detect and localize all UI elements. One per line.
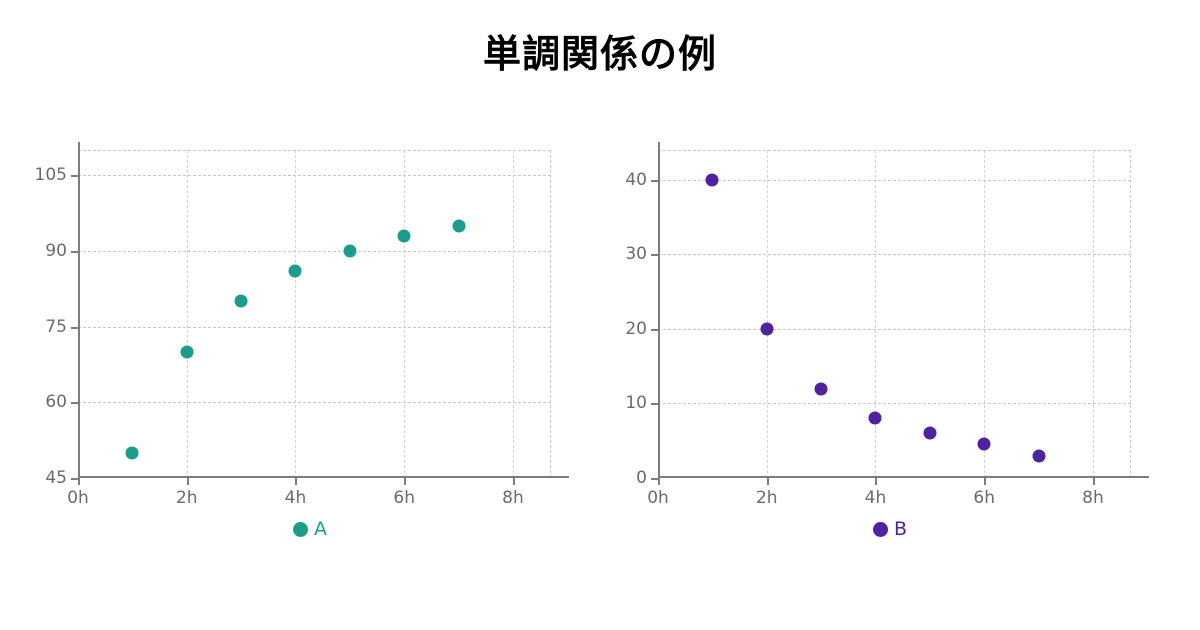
y-axis-tick bbox=[651, 478, 658, 480]
x-axis-tick bbox=[187, 478, 189, 485]
data-point[interactable] bbox=[398, 229, 411, 242]
x-axis-label: 8h bbox=[1082, 488, 1104, 508]
x-axis-tick bbox=[767, 478, 769, 485]
y-axis-tick bbox=[71, 175, 78, 177]
gridline-vertical bbox=[404, 150, 405, 478]
chart-panel-a: 456075901050h2h4h6h8h A bbox=[30, 130, 590, 560]
gridline-horizontal bbox=[78, 327, 551, 328]
data-point[interactable] bbox=[343, 244, 356, 257]
page-title: 単調関係の例 bbox=[0, 34, 1200, 76]
x-axis-label: 0h bbox=[647, 488, 669, 508]
gridline-vertical bbox=[875, 150, 876, 478]
y-axis-tick bbox=[651, 180, 658, 182]
plot-area-a: 456075901050h2h4h6h8h bbox=[78, 150, 551, 478]
x-axis-tick bbox=[875, 478, 877, 485]
data-point[interactable] bbox=[815, 382, 828, 395]
y-axis-tick bbox=[651, 403, 658, 405]
legend-b: B bbox=[610, 518, 1170, 540]
x-axis-label: 6h bbox=[393, 488, 415, 508]
gridline-vertical bbox=[1093, 150, 1094, 478]
y-axis-tick bbox=[71, 251, 78, 253]
data-point[interactable] bbox=[760, 322, 773, 335]
y-axis-tick bbox=[651, 329, 658, 331]
x-axis-tick bbox=[295, 478, 297, 485]
y-axis-label: 20 bbox=[625, 319, 647, 339]
gridline-horizontal bbox=[658, 180, 1131, 181]
plot-border-right bbox=[550, 150, 551, 478]
data-point[interactable] bbox=[235, 295, 248, 308]
y-axis-line bbox=[78, 142, 80, 482]
y-axis-label: 90 bbox=[45, 241, 67, 261]
y-axis-label: 10 bbox=[625, 393, 647, 413]
x-axis-line bbox=[78, 476, 569, 478]
gridline-horizontal bbox=[78, 402, 551, 403]
data-point[interactable] bbox=[978, 438, 991, 451]
y-axis-label: 0 bbox=[636, 468, 647, 488]
y-axis-label: 45 bbox=[45, 468, 67, 488]
x-axis-tick bbox=[1093, 478, 1095, 485]
gridline-horizontal bbox=[658, 403, 1131, 404]
plot-border-top bbox=[658, 150, 1131, 151]
data-point[interactable] bbox=[289, 265, 302, 278]
legend-a: A bbox=[30, 518, 590, 540]
x-axis-label: 2h bbox=[756, 488, 778, 508]
x-axis-tick bbox=[404, 478, 406, 485]
x-axis-label: 4h bbox=[865, 488, 887, 508]
legend-label[interactable]: B bbox=[894, 518, 907, 540]
x-axis-label: 2h bbox=[176, 488, 198, 508]
x-axis-label: 0h bbox=[67, 488, 89, 508]
gridline-horizontal bbox=[78, 175, 551, 176]
data-point[interactable] bbox=[180, 345, 193, 358]
y-axis-label: 40 bbox=[625, 170, 647, 190]
x-axis-label: 6h bbox=[973, 488, 995, 508]
plot-border-right bbox=[1130, 150, 1131, 478]
plot-border-top bbox=[78, 150, 551, 151]
data-point[interactable] bbox=[1032, 449, 1045, 462]
gridline-vertical bbox=[295, 150, 296, 478]
y-axis-tick bbox=[651, 254, 658, 256]
gridline-horizontal bbox=[658, 329, 1131, 330]
x-axis-label: 4h bbox=[285, 488, 307, 508]
data-point[interactable] bbox=[923, 427, 936, 440]
plot-area-b: 0102030400h2h4h6h8h bbox=[658, 150, 1131, 478]
legend-marker-icon bbox=[873, 522, 888, 537]
x-axis-line bbox=[658, 476, 1149, 478]
y-axis-label: 105 bbox=[35, 165, 67, 185]
data-point[interactable] bbox=[869, 412, 882, 425]
y-axis-label: 30 bbox=[625, 244, 647, 264]
x-axis-tick bbox=[513, 478, 515, 485]
data-point[interactable] bbox=[126, 446, 139, 459]
y-axis-label: 75 bbox=[45, 317, 67, 337]
y-axis-tick bbox=[71, 327, 78, 329]
chart-panel-b: 0102030400h2h4h6h8h B bbox=[610, 130, 1170, 560]
legend-label[interactable]: A bbox=[314, 518, 327, 540]
y-axis-label: 60 bbox=[45, 392, 67, 412]
gridline-vertical bbox=[513, 150, 514, 478]
legend-marker-icon bbox=[293, 522, 308, 537]
gridline-vertical bbox=[767, 150, 768, 478]
gridline-horizontal bbox=[658, 254, 1131, 255]
gridline-vertical bbox=[187, 150, 188, 478]
gridline-vertical bbox=[984, 150, 985, 478]
data-point[interactable] bbox=[706, 173, 719, 186]
x-axis-tick bbox=[984, 478, 986, 485]
y-axis-line bbox=[658, 142, 660, 482]
x-axis-label: 8h bbox=[502, 488, 524, 508]
data-point[interactable] bbox=[452, 219, 465, 232]
y-axis-tick bbox=[71, 402, 78, 404]
y-axis-tick bbox=[71, 478, 78, 480]
gridline-horizontal bbox=[78, 251, 551, 252]
